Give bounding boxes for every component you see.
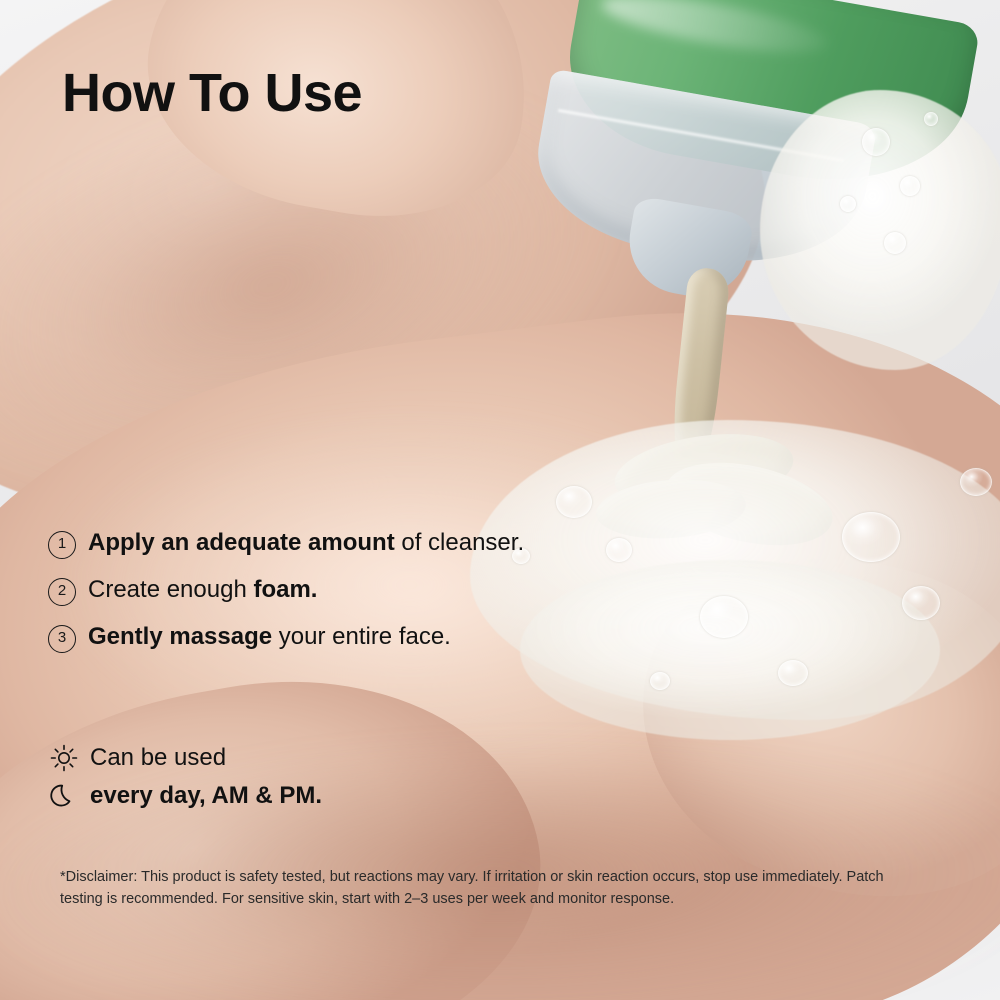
list-item: 3 Gently massage your entire face. (48, 622, 648, 653)
bubble (700, 596, 748, 638)
step-text: Apply an adequate amount of cleanser. (88, 528, 524, 559)
bubble (778, 660, 808, 686)
page-title: How To Use (62, 62, 362, 124)
bubble (862, 128, 890, 156)
bubble (900, 176, 920, 196)
usage-row-day: Can be used (48, 742, 648, 774)
product-photo (0, 0, 1000, 1000)
step-number: 1 (48, 531, 76, 559)
step-emphasis: Gently massage (88, 623, 272, 650)
step-rest: of cleanser. (395, 529, 524, 556)
step-text: Gently massage your entire face. (88, 622, 451, 653)
bubble (650, 672, 670, 690)
usage-block: Can be used every day, AM & PM. (48, 742, 648, 818)
list-item: 2 Create enough foam. (48, 575, 648, 606)
step-emphasis: foam. (253, 576, 317, 603)
bubble (840, 196, 856, 212)
bubble (884, 232, 906, 254)
usage-row-night: every day, AM & PM. (48, 780, 648, 812)
usage-night-text: every day, AM & PM. (90, 782, 322, 810)
bubble (842, 512, 900, 562)
moon-icon (48, 780, 80, 812)
sun-icon (48, 742, 80, 774)
list-item: 1 Apply an adequate amount of cleanser. (48, 528, 648, 559)
step-prefix: Create enough (88, 576, 253, 603)
steps-list: 1 Apply an adequate amount of cleanser. … (48, 528, 648, 669)
step-number: 3 (48, 625, 76, 653)
how-to-use-graphic: How To Use 1 Apply an adequate amount of… (0, 0, 1000, 1000)
step-text: Create enough foam. (88, 575, 317, 606)
usage-day-text: Can be used (90, 744, 226, 772)
bubble (960, 468, 992, 496)
bubble (924, 112, 938, 126)
step-rest: your entire face. (272, 623, 451, 650)
disclaimer-text: *Disclaimer: This product is safety test… (60, 866, 920, 911)
step-number: 2 (48, 578, 76, 606)
step-emphasis: Apply an adequate amount (88, 529, 395, 556)
bubble (902, 586, 940, 620)
bubble (556, 486, 592, 518)
